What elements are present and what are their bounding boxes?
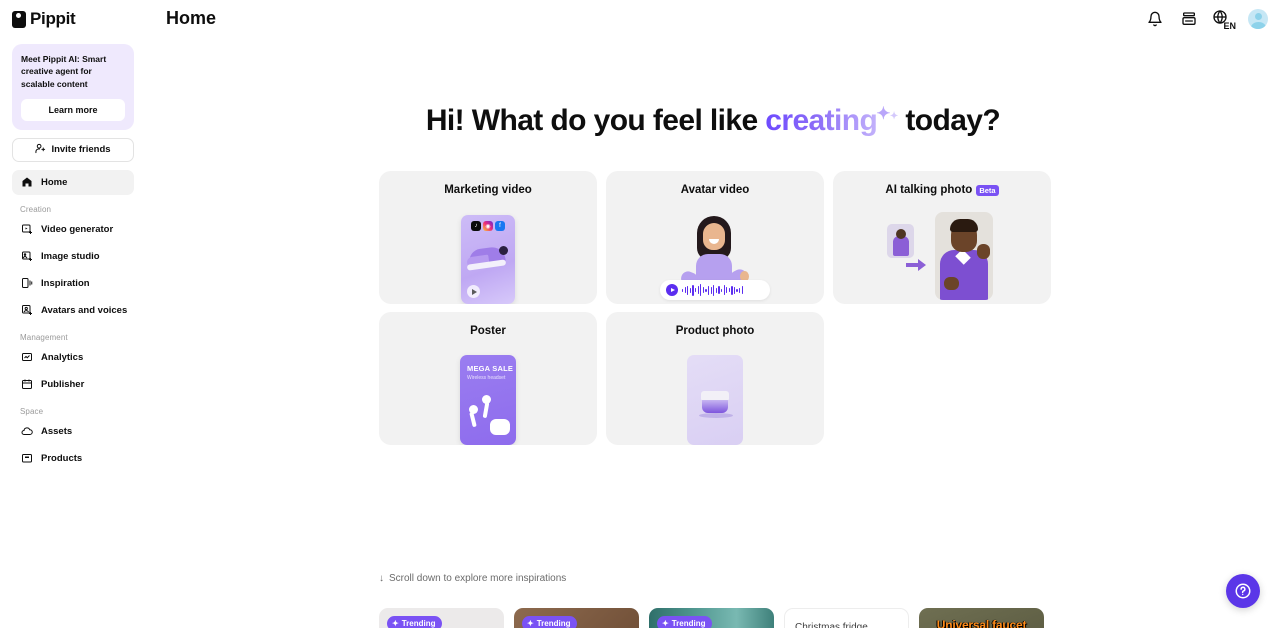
invite-friends-button[interactable]: Invite friends — [12, 138, 134, 162]
audio-player — [660, 280, 770, 300]
arrow-icon — [905, 258, 927, 272]
avatar[interactable] — [1248, 9, 1268, 29]
card-avatar-video[interactable]: Avatar video — [606, 171, 824, 304]
trending-badge: ✦ Trending — [657, 616, 712, 628]
trending-badge: ✦ Trending — [387, 616, 442, 628]
inspiration-card[interactable]: Universal faucet — [919, 608, 1044, 628]
sidebar-group-creation: Creation Video generator Image studio In… — [12, 205, 134, 323]
scroll-hint: ↓ Scroll down to explore more inspiratio… — [379, 573, 566, 584]
sneaker-image — [467, 245, 509, 271]
products-icon — [20, 452, 33, 465]
sidebar-item-label: Assets — [41, 426, 72, 437]
assets-icon — [20, 425, 33, 438]
card-marketing-video[interactable]: Marketing video ♪ ◉ f — [379, 171, 597, 304]
result-photo — [935, 212, 993, 300]
status-badge: Beta — [976, 185, 998, 196]
sidebar-item-products[interactable]: Products — [12, 446, 134, 471]
marketing-video-thumbnail: ♪ ◉ f — [379, 208, 597, 304]
scroll-hint-label: Scroll down to explore more inspirations — [389, 573, 566, 584]
image-studio-icon — [20, 250, 33, 263]
header-actions: EN — [1144, 8, 1268, 30]
waveform — [682, 284, 743, 296]
pippit-logo-icon — [12, 11, 26, 28]
facebook-icon: f — [495, 221, 505, 231]
sidebar-group-management: Management Analytics Publisher — [12, 333, 134, 397]
hero-highlight: creating — [765, 104, 877, 137]
sidebar-item-label: Inspiration — [41, 278, 90, 289]
language-selector[interactable]: EN — [1212, 9, 1236, 30]
sidebar-group-label-management: Management — [12, 333, 134, 342]
inspiration-card[interactable]: ✦ Trending — [379, 608, 504, 628]
help-button[interactable] — [1226, 574, 1260, 608]
sidebar-item-avatars-and-voices[interactable]: Avatars and voices — [12, 298, 134, 323]
sparkle-small-icon: ✦ — [890, 111, 898, 122]
card-title-label: Product photo — [676, 325, 755, 337]
card-poster[interactable]: Poster MEGA SALE Wireless headset — [379, 312, 597, 445]
invite-friends-label: Invite friends — [51, 144, 110, 155]
inspiration-card[interactable]: ✦ Trending — [514, 608, 639, 628]
sidebar-item-publisher[interactable]: Publisher — [12, 372, 134, 397]
sidebar-item-image-studio[interactable]: Image studio — [12, 244, 134, 269]
trending-badge-label: Trending — [672, 619, 706, 628]
sidebar-group-space: Space Assets Products — [12, 407, 134, 471]
drawer-icon[interactable] — [1178, 8, 1200, 30]
inspiration-strip: ✦ Trending ✦ Trending ✦ Trending Christm… — [379, 608, 1044, 628]
hero-prefix: Hi! What do you feel like — [426, 104, 765, 137]
inspiration-card-label: Christmas fridge magnets — [795, 621, 900, 628]
arrow-down-icon: ↓ — [379, 573, 384, 584]
play-icon — [666, 284, 678, 296]
language-label: EN — [1223, 21, 1236, 31]
help-icon — [1234, 582, 1252, 600]
trending-badge-label: Trending — [537, 619, 571, 628]
play-icon — [467, 285, 480, 298]
logo-text: Pippit — [30, 9, 75, 29]
hero-suffix: today? — [898, 104, 1000, 137]
trending-badge-label: Trending — [402, 619, 436, 628]
inspiration-card[interactable]: ✦ Trending — [649, 608, 774, 628]
learn-more-button[interactable]: Learn more — [21, 99, 125, 121]
promo-card: Meet Pippit AI: Smart creative agent for… — [12, 44, 134, 130]
promo-text: Meet Pippit AI: Smart creative agent for… — [21, 53, 125, 90]
sidebar-item-label: Products — [41, 453, 82, 464]
inspiration-card[interactable]: Christmas fridge magnets — [784, 608, 909, 628]
sidebar-group-label-creation: Creation — [12, 205, 134, 214]
card-title: AI talking photo Beta — [833, 184, 1051, 196]
sparkle-icon: ✦ — [662, 619, 669, 628]
card-title-label: Avatar video — [681, 184, 750, 196]
card-row-1: Marketing video ♪ ◉ f — [379, 171, 1051, 304]
main-content: Hi! What do you feel like creating✦✦ tod… — [146, 40, 1280, 628]
card-product-photo[interactable]: Product photo — [606, 312, 824, 445]
invite-user-icon — [35, 143, 46, 157]
app-header: Pippit Home EN — [0, 0, 1280, 40]
sparkle-icon: ✦ — [392, 619, 399, 628]
hero-heading: Hi! What do you feel like creating✦✦ tod… — [146, 104, 1280, 138]
sidebar-item-video-generator[interactable]: Video generator — [12, 217, 134, 242]
sidebar-item-label: Analytics — [41, 352, 83, 363]
card-title: Product photo — [606, 325, 824, 337]
sparkle-icon: ✦ — [876, 104, 890, 123]
card-title: Avatar video — [606, 184, 824, 196]
card-row-2: Poster MEGA SALE Wireless headset Produc… — [379, 312, 824, 445]
page-title: Home — [166, 8, 216, 29]
earbud-image — [482, 395, 491, 404]
poster-subline: Wireless headset — [467, 375, 505, 381]
card-title-label: Marketing video — [444, 184, 532, 196]
avatar-video-thumbnail — [606, 208, 824, 304]
poster-headline: MEGA SALE — [467, 364, 513, 373]
bell-icon[interactable] — [1144, 8, 1166, 30]
inspiration-icon — [20, 277, 33, 290]
sidebar-item-label: Video generator — [41, 224, 113, 235]
sidebar-item-home-label: Home — [41, 177, 67, 188]
presenter-image — [688, 216, 740, 288]
app-logo[interactable]: Pippit — [12, 9, 75, 29]
sparkle-icon: ✦ — [527, 619, 534, 628]
card-title: Marketing video — [379, 184, 597, 196]
cosmetic-jar-image — [702, 399, 728, 413]
card-title: Poster — [379, 325, 597, 337]
instagram-icon: ◉ — [483, 221, 493, 231]
card-ai-talking-photo[interactable]: AI talking photo Beta — [833, 171, 1051, 304]
home-icon — [20, 176, 33, 189]
avatars-voices-icon — [20, 304, 33, 317]
source-photo — [887, 224, 914, 258]
sidebar-group-label-space: Space — [12, 407, 134, 416]
ai-talking-photo-thumbnail — [833, 208, 1051, 304]
sidebar-item-label: Image studio — [41, 251, 100, 262]
sidebar: Meet Pippit AI: Smart creative agent for… — [0, 40, 146, 628]
tiktok-icon: ♪ — [471, 221, 481, 231]
card-title-label: AI talking photo — [885, 184, 972, 196]
sidebar-item-assets[interactable]: Assets — [12, 419, 134, 444]
earbud-image — [469, 405, 478, 414]
sidebar-item-inspiration[interactable]: Inspiration — [12, 271, 134, 296]
sidebar-item-home[interactable]: Home — [12, 170, 134, 195]
analytics-icon — [20, 351, 33, 364]
video-generator-icon — [20, 223, 33, 236]
sidebar-item-analytics[interactable]: Analytics — [12, 345, 134, 370]
trending-badge: ✦ Trending — [522, 616, 577, 628]
inspiration-card-ad-label: Universal faucet — [926, 618, 1037, 628]
publisher-icon — [20, 378, 33, 391]
app-root: Pippit Home EN — [0, 0, 1280, 628]
sidebar-item-label: Publisher — [41, 379, 84, 390]
product-photo-thumbnail — [606, 349, 824, 445]
poster-thumbnail: MEGA SALE Wireless headset — [379, 349, 597, 445]
sidebar-item-label: Avatars and voices — [41, 305, 127, 316]
earbud-case-image — [490, 419, 510, 435]
card-title-label: Poster — [470, 325, 506, 337]
